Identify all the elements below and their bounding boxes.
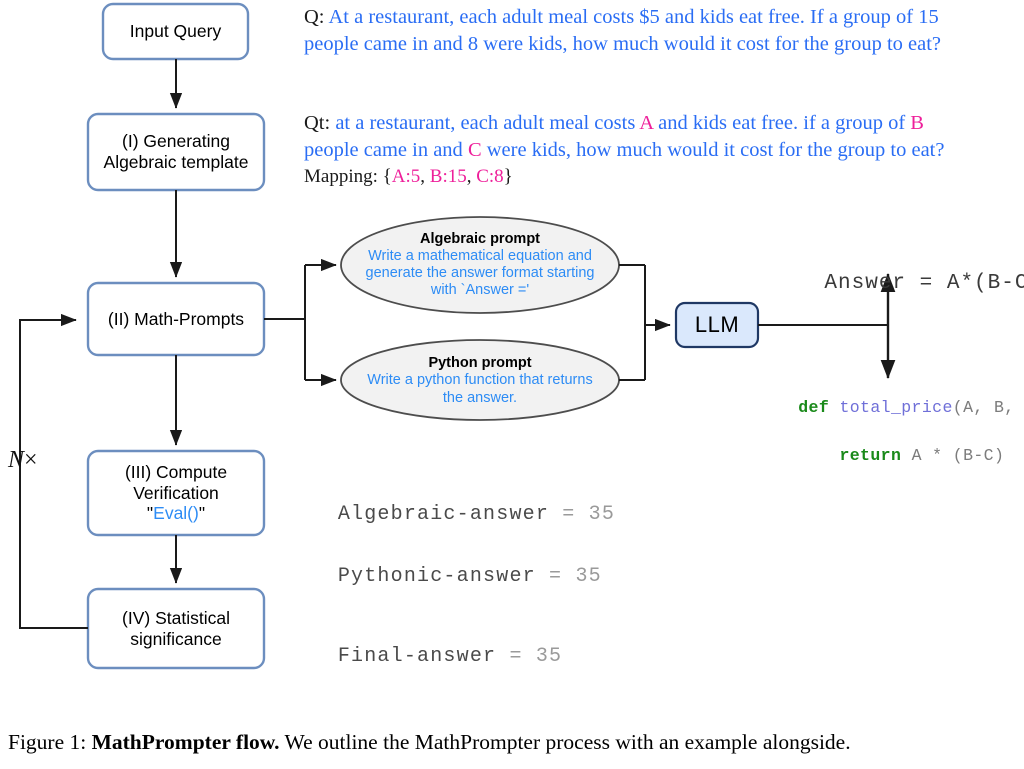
- box-step-1: [88, 114, 264, 190]
- template-seg2: and kids eat free. if a group of: [653, 112, 910, 134]
- figure-mathprompter-flow: Input Query (I) Generating Algebraic tem…: [0, 0, 1024, 769]
- answer-equation-text: Answer = A*(B-C): [824, 272, 1024, 295]
- code-space-2: [901, 446, 911, 465]
- ellipse-algebraic-prompt: [341, 217, 619, 313]
- final-answer-label: Final-answer: [338, 645, 496, 668]
- code-expression: A * (B-C): [912, 446, 1005, 465]
- template-block: Qt: at a restaurant, each adult meal cos…: [304, 110, 1020, 163]
- mapping-label: Mapping: {: [304, 166, 392, 187]
- template-seg4: were kids, how much would it cost for th…: [482, 139, 945, 161]
- question-line2: people came in and 8 were kids, how much…: [304, 33, 941, 55]
- code-signature: (A, B, C):: [953, 398, 1024, 417]
- algebraic-answer-value: = 35: [549, 503, 615, 526]
- arrow-feedback-loop: [20, 320, 88, 628]
- template-seg1: at a restaurant, each adult meal costs: [335, 112, 639, 134]
- template-tag: Qt:: [304, 112, 330, 134]
- caption-rest: We outline the MathPrompter process with…: [285, 730, 851, 754]
- template-seg3: people came in and: [304, 139, 468, 161]
- mapping-value-a: A:5: [392, 166, 421, 187]
- pythonic-answer-label: Pythonic-answer: [338, 565, 536, 588]
- loop-count-n: N: [8, 447, 24, 473]
- question-block: Q: At a restaurant, each adult meal cost…: [304, 4, 1020, 57]
- mapping-sep-1: ,: [420, 166, 430, 187]
- template-var-c: C: [468, 139, 482, 161]
- question-tag: Q:: [304, 6, 325, 28]
- box-input-query: [103, 4, 248, 59]
- template-var-b: B: [910, 112, 924, 134]
- code-function-name: total_price: [839, 398, 952, 417]
- box-step-4: [88, 589, 264, 668]
- caption-prefix: Figure 1:: [8, 730, 86, 754]
- code-keyword-return: return: [839, 446, 901, 465]
- question-line1: At a restaurant, each adult meal costs $…: [329, 6, 939, 28]
- mapping-line: Mapping: {A:5, B:15, C:8}: [304, 166, 1020, 188]
- mapping-value-c: C:8: [476, 166, 503, 187]
- answer-equation-block: Answer = A*(B-C): [770, 249, 1024, 318]
- code-indent: [798, 446, 839, 465]
- verification-answers-block: Algebraic-answer = 35 Pythonic-answer = …: [285, 468, 615, 623]
- caption-bold-title: MathPrompter flow.: [92, 730, 280, 754]
- algebraic-answer-label: Algebraic-answer: [338, 503, 549, 526]
- mapping-value-b: B:15: [430, 166, 467, 187]
- template-var-a: A: [639, 112, 653, 134]
- code-keyword-def: def: [798, 398, 829, 417]
- mapping-sep-2: ,: [467, 166, 477, 187]
- ellipse-python-prompt: [341, 340, 619, 420]
- loop-count-label: N×: [8, 447, 38, 474]
- final-answer-value: = 35: [496, 645, 562, 668]
- box-llm: [676, 303, 758, 347]
- final-answer-block: Final-answer = 35: [285, 610, 562, 703]
- box-step-3: [88, 451, 264, 535]
- mapping-close: }: [504, 166, 513, 187]
- code-space-1: [829, 398, 839, 417]
- python-code-block: def total_price(A, B, C): return A * (B-…: [757, 372, 1024, 492]
- box-step-2: [88, 283, 264, 355]
- figure-caption: Figure 1: MathPrompter flow. We outline …: [8, 730, 1016, 755]
- loop-count-times: ×: [24, 447, 38, 473]
- pythonic-answer-value: = 35: [536, 565, 602, 588]
